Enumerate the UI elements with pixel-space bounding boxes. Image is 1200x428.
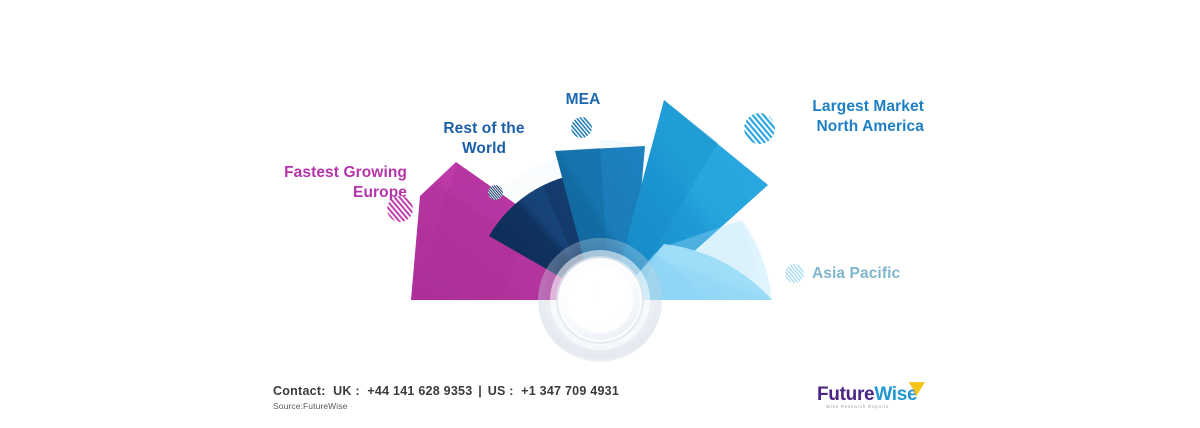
contact-line: Contact: UK : +44 141 628 9353 | US : +1… (273, 384, 619, 398)
hatched-circle-icon-europe (387, 196, 413, 222)
label-rest-of-the-world: Rest of the World (410, 119, 558, 159)
contact-separator: | (476, 384, 484, 398)
regional-pinwheel-chart (0, 0, 1200, 428)
label-mea: MEA (536, 90, 630, 110)
label-asia-pacific-name: Asia Pacific (812, 264, 900, 284)
label-asia-pacific: Asia Pacific (812, 264, 900, 284)
hatched-circle-icon-north-america (744, 113, 775, 144)
label-europe-annotation: Fastest Growing (255, 163, 407, 183)
hatched-circle-icon-mea (571, 117, 592, 138)
label-europe: Fastest Growing Europe (255, 163, 407, 203)
logo-word-future: Future (817, 384, 874, 405)
infographic-canvas: Fastest Growing Europe Rest of the World… (0, 0, 1200, 428)
hatched-circle-icon-asia-pacific (785, 264, 804, 283)
uk-phone: +44 141 628 9353 (367, 384, 472, 398)
label-north-america: Largest Market North America (780, 97, 924, 137)
logo-wordmark: FutureWise (817, 384, 917, 406)
futurewise-logo[interactable]: FutureWise Wise Research Reports (817, 382, 925, 416)
label-rest-of-the-world-line1: Rest of the (410, 119, 558, 139)
label-north-america-name: North America (780, 117, 924, 137)
uk-label: UK : (333, 384, 360, 398)
hatched-circle-icon-rest-of-the-world (488, 185, 503, 200)
footer: Contact: UK : +44 141 628 9353 | US : +1… (0, 384, 1200, 428)
label-north-america-annotation: Largest Market (780, 97, 924, 117)
us-label: US : (488, 384, 514, 398)
contact-label: Contact: (273, 384, 326, 398)
label-rest-of-the-world-line2: World (410, 139, 558, 159)
paper-plane-icon (907, 381, 926, 398)
us-phone: +1 347 709 4931 (521, 384, 619, 398)
label-mea-name: MEA (536, 90, 630, 110)
label-europe-name: Europe (255, 183, 407, 203)
chart-center-hub (538, 238, 662, 362)
source-line: Source:FutureWise (273, 401, 347, 411)
logo-tagline: Wise Research Reports (826, 404, 889, 409)
